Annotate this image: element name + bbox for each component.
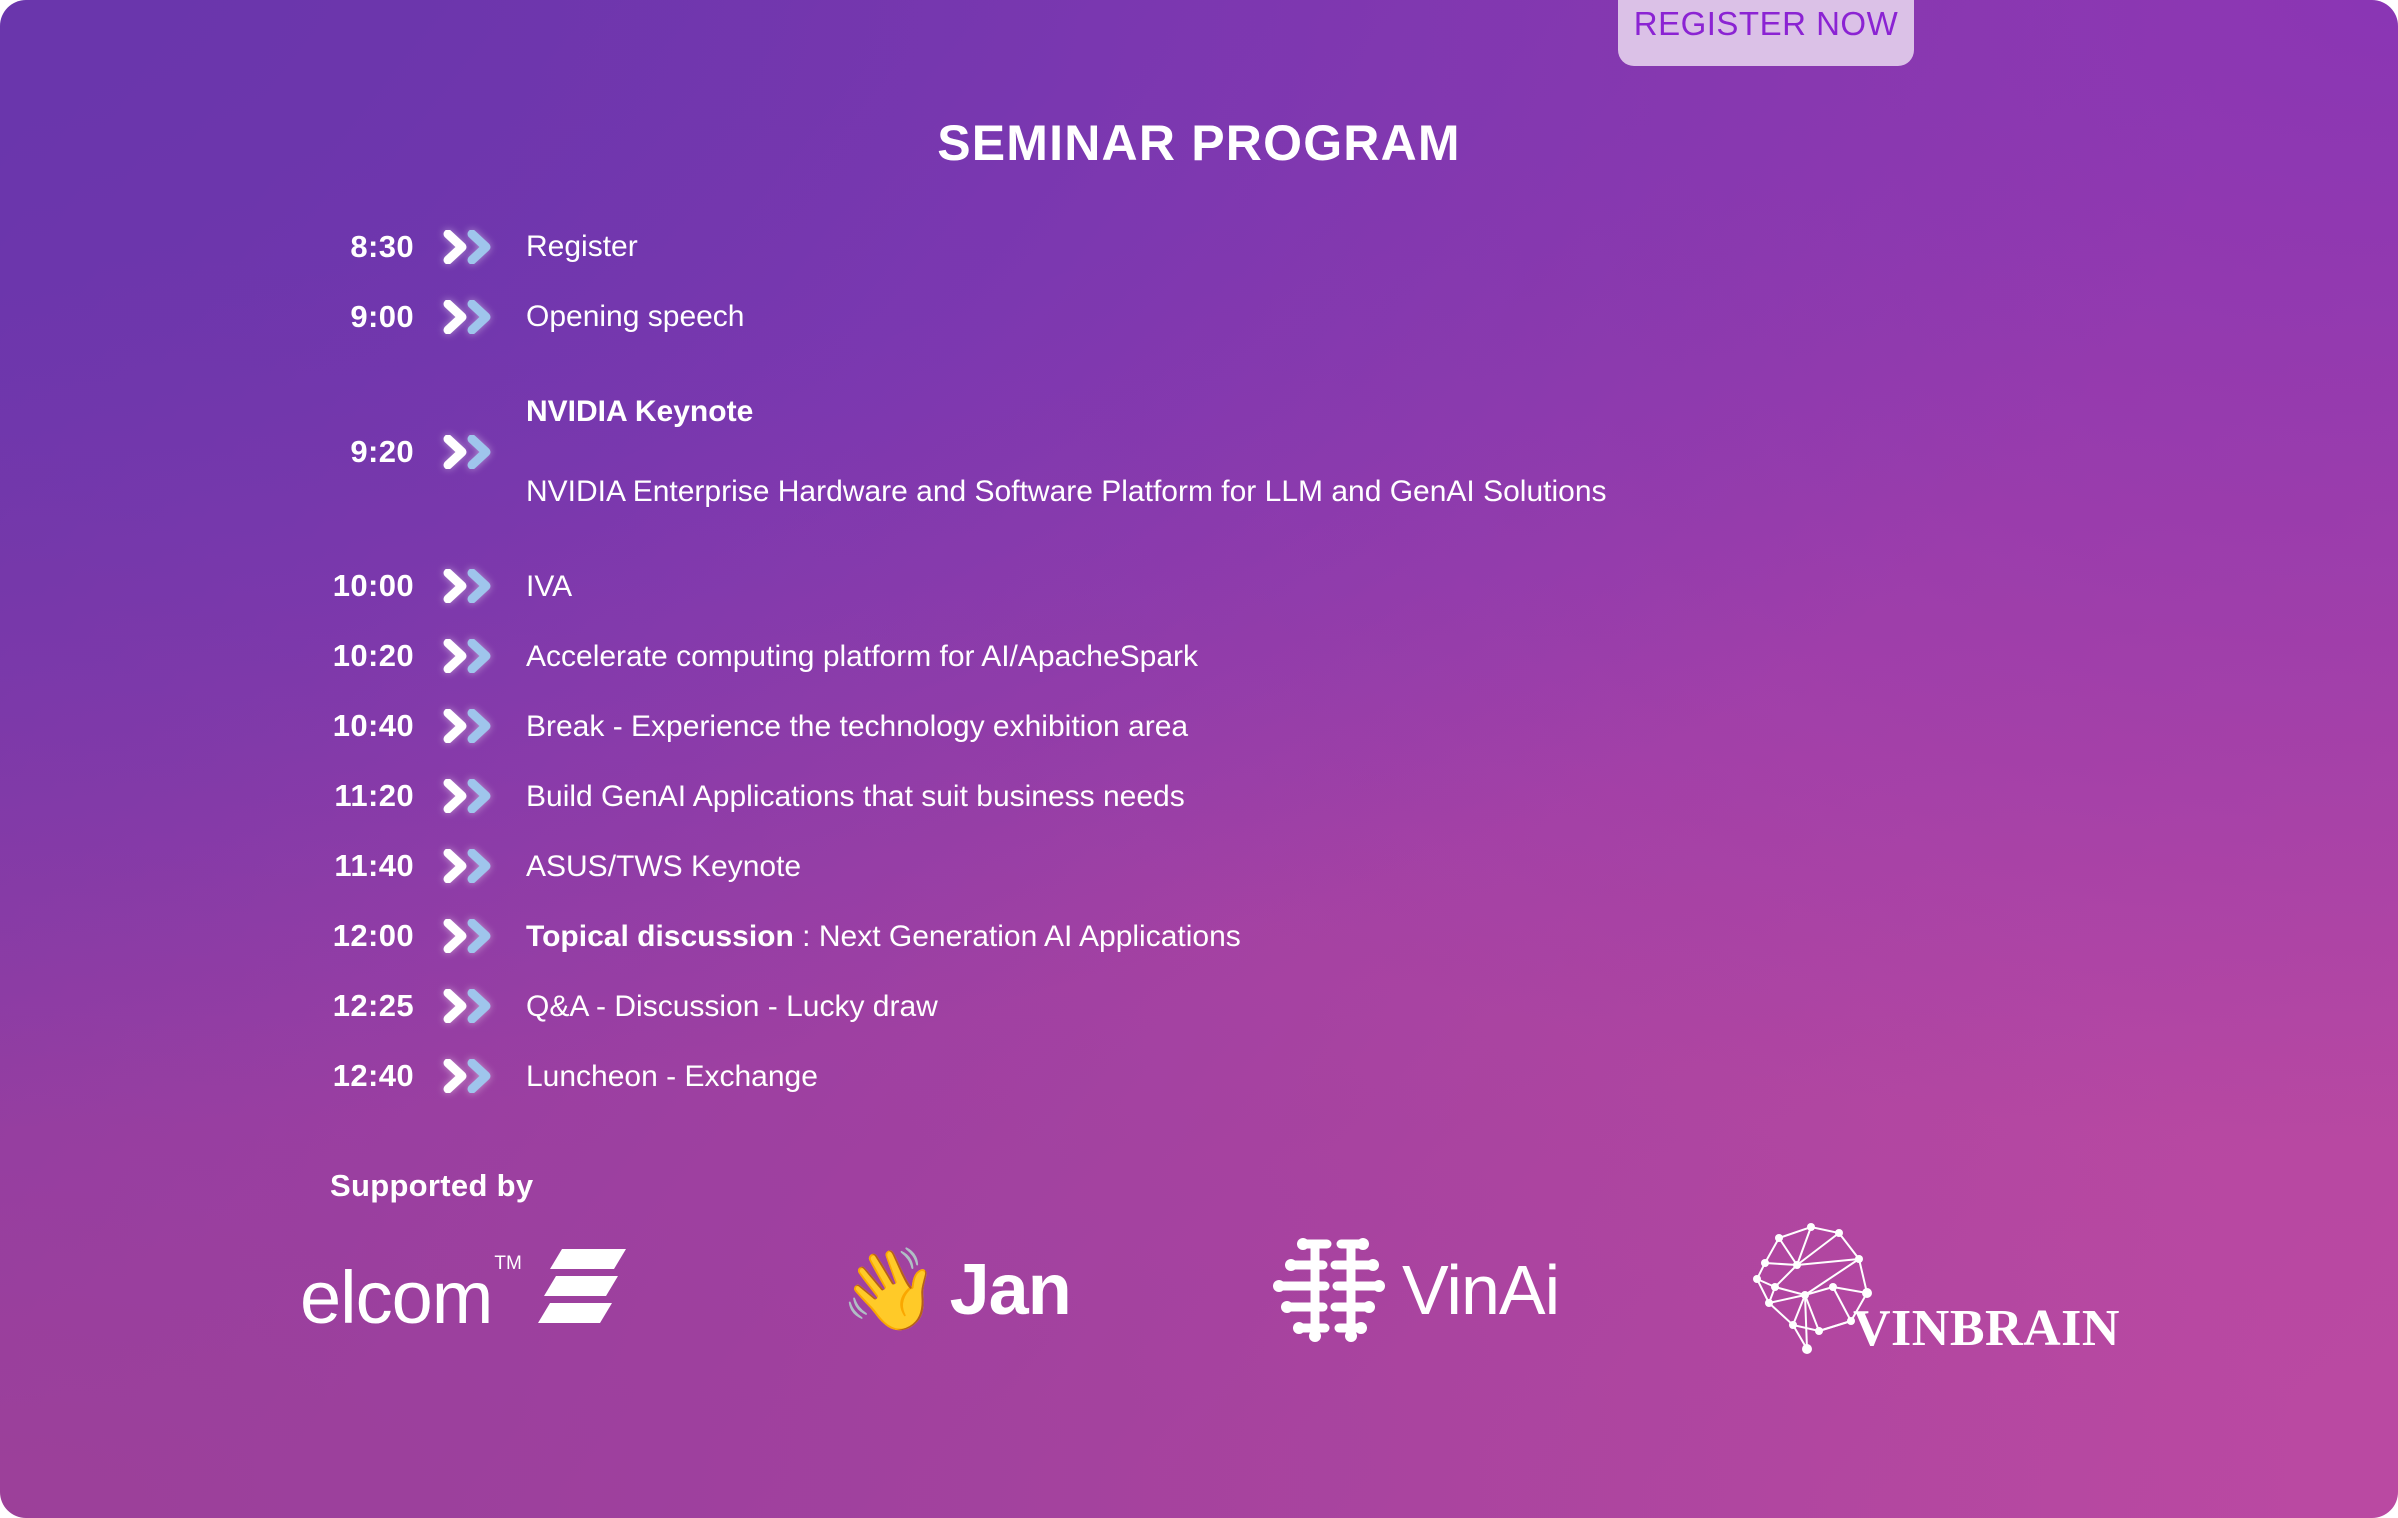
jan-wordmark: Jan <box>950 1249 1071 1331</box>
schedule-row: 10:00 IVA <box>0 551 2398 621</box>
schedule-time: 11:20 <box>252 778 414 814</box>
schedule-time: 12:25 <box>252 988 414 1024</box>
double-chevron-right-icon <box>442 639 504 673</box>
schedule-time: 12:00 <box>252 918 414 954</box>
schedule-row: 12:00 Topical discussion : Next Generati… <box>0 901 2398 971</box>
schedule-time: 10:40 <box>252 708 414 744</box>
schedule-row: 10:20 Accelerate computing platform for … <box>0 621 2398 691</box>
schedule-time: 9:20 <box>252 434 414 470</box>
schedule-time: 10:20 <box>252 638 414 674</box>
page-title: SEMINAR PROGRAM <box>0 114 2398 172</box>
schedule-time: 12:40 <box>252 1058 414 1094</box>
schedule-text: IVA <box>526 567 572 607</box>
schedule-text: Luncheon - Exchange <box>526 1057 818 1097</box>
schedule-time: 8:30 <box>252 229 414 265</box>
schedule-time: 9:00 <box>252 299 414 335</box>
schedule-list: 8:30 Register 9:00 Opening speech 9: <box>0 212 2398 1111</box>
vinai-circuit-mark-icon <box>1265 1232 1390 1349</box>
double-chevron-right-icon <box>442 569 504 603</box>
vinai-wordmark: VinAi <box>1402 1250 1559 1330</box>
schedule-text: Build GenAI Applications that suit busin… <box>526 777 1185 817</box>
elcom-e-mark-icon <box>536 1247 628 1330</box>
double-chevron-right-icon <box>442 709 504 743</box>
double-chevron-right-icon <box>442 779 504 813</box>
schedule-text: Opening speech <box>526 297 745 337</box>
double-chevron-right-icon <box>442 919 504 953</box>
vinbrain-wordmark: VINBRAIN <box>1853 1299 2120 1358</box>
double-chevron-right-icon <box>442 300 504 334</box>
schedule-row: 11:40 ASUS/TWS Keynote <box>0 831 2398 901</box>
schedule-text: Register <box>526 227 638 267</box>
sponsor-logo-vinbrain: VINBRAIN <box>1735 1215 2120 1365</box>
schedule-row: 11:20 Build GenAI Applications that suit… <box>0 761 2398 831</box>
schedule-row: 8:30 Register <box>0 212 2398 282</box>
waving-hand-icon: 👋 <box>840 1250 940 1330</box>
schedule-text: Q&A - Discussion - Lucky draw <box>526 987 938 1027</box>
schedule-row: 12:25 Q&A - Discussion - Lucky draw <box>0 971 2398 1041</box>
schedule-text: ASUS/TWS Keynote <box>526 847 801 887</box>
double-chevron-right-icon <box>442 1059 504 1093</box>
sponsor-logo-jan: 👋 Jan <box>840 1215 1071 1365</box>
elcom-wordmark: elcom <box>300 1263 492 1333</box>
schedule-row: 9:20 NVIDIA Keynote NVIDIA Enterprise Ha… <box>0 352 2398 551</box>
schedule-row: 10:40 Break - Experience the technology … <box>0 691 2398 761</box>
schedule-text: Accelerate computing platform for AI/Apa… <box>526 637 1198 677</box>
register-now-button[interactable]: REGISTER NOW <box>1618 0 1914 66</box>
trademark-icon: TM <box>494 1253 521 1275</box>
schedule-text-title: NVIDIA Keynote <box>526 392 1607 432</box>
double-chevron-right-icon <box>442 989 504 1023</box>
schedule-text-rest: : Next Generation AI Applications <box>794 920 1241 953</box>
sponsor-logo-vinai: VinAi <box>1265 1215 1559 1365</box>
schedule-text-subtitle: NVIDIA Enterprise Hardware and Software … <box>526 472 1607 512</box>
sponsor-logo-strip: elcom TM 👋 Jan <box>300 1215 2130 1365</box>
schedule-time: 11:40 <box>252 848 414 884</box>
schedule-text: Topical discussion : Next Generation AI … <box>526 917 1241 957</box>
schedule-row: 9:00 Opening speech <box>0 282 2398 352</box>
schedule-text-bold-prefix: Topical discussion <box>526 920 794 953</box>
double-chevron-right-icon <box>442 435 504 469</box>
supported-by-label: Supported by <box>330 1168 533 1204</box>
schedule-text: Break - Experience the technology exhibi… <box>526 707 1188 747</box>
schedule-row: 12:40 Luncheon - Exchange <box>0 1041 2398 1111</box>
sponsor-logo-elcom: elcom TM <box>300 1215 628 1365</box>
schedule-text: NVIDIA Keynote NVIDIA Enterprise Hardwar… <box>526 352 1607 551</box>
double-chevron-right-icon <box>442 230 504 264</box>
double-chevron-right-icon <box>442 849 504 883</box>
seminar-program-slide: REGISTER NOW SEMINAR PROGRAM 8:30 Regist… <box>0 0 2398 1518</box>
schedule-time: 10:00 <box>252 568 414 604</box>
